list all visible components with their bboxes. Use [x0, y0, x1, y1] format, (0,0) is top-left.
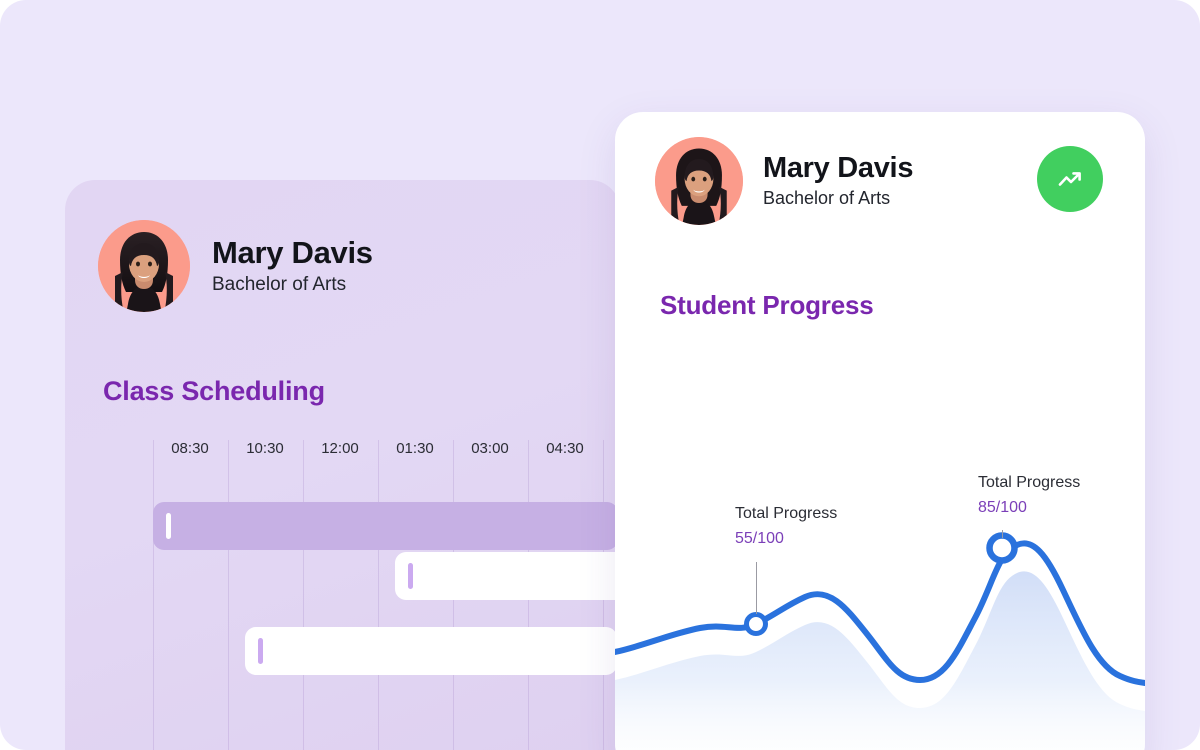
user-portrait-avatar: [98, 220, 190, 312]
time-label: 12:00: [305, 440, 375, 457]
time-label: 03:00: [455, 440, 525, 457]
progress-title: Student Progress: [660, 290, 874, 321]
profile-degree: Bachelor of Arts: [212, 274, 373, 296]
schedule-title: Class Scheduling: [103, 376, 325, 407]
timeline-gridline: [228, 440, 229, 750]
class-scheduling-card: Mary Davis Bachelor of Arts Class Schedu…: [65, 180, 620, 750]
time-label: 01:30: [380, 440, 450, 457]
schedule-bar-accent: [258, 638, 263, 664]
schedule-bar[interactable]: [395, 552, 620, 600]
timeline-gridline: [303, 440, 304, 750]
profile-name: Mary Davis: [763, 153, 913, 184]
timeline-axis: 08:3010:3012:0001:3003:0004:30: [65, 440, 620, 474]
annotation-stem-2b: [1002, 530, 1003, 538]
annotation-label: Total Progress: [978, 474, 1080, 492]
schedule-profile-header: Mary Davis Bachelor of Arts: [98, 220, 373, 312]
schedule-bar-accent: [166, 513, 171, 539]
chart-annotation-2: Total Progress 85/100: [978, 474, 1080, 517]
time-label: 10:30: [230, 440, 300, 457]
annotation-value: 55/100: [735, 530, 837, 548]
annotation-stem-1: [756, 562, 757, 614]
chart-annotation-1: Total Progress 55/100: [735, 505, 837, 548]
time-label: 04:30: [530, 440, 600, 457]
annotation-value: 85/100: [978, 499, 1080, 517]
chart-marker-large: [990, 536, 1015, 561]
profile-name: Mary Davis: [212, 236, 373, 269]
timeline-gridline: [153, 440, 154, 750]
schedule-timeline: 08:3010:3012:0001:3003:0004:30: [65, 440, 620, 750]
chart-marker-small: [747, 615, 766, 634]
schedule-profile-text: Mary Davis Bachelor of Arts: [212, 236, 373, 296]
progress-profile-text: Mary Davis Bachelor of Arts: [763, 153, 913, 209]
schedule-bar[interactable]: [245, 627, 617, 675]
annotation-label: Total Progress: [735, 505, 837, 523]
app-canvas: Mary Davis Bachelor of Arts Class Schedu…: [0, 0, 1200, 750]
progress-profile-header: Mary Davis Bachelor of Arts: [655, 137, 913, 225]
user-portrait-avatar: [655, 137, 743, 225]
trending-up-icon[interactable]: [1037, 146, 1103, 212]
student-progress-card: Mary Davis Bachelor of Arts Student Prog…: [615, 112, 1145, 750]
timeline-gridline: [378, 440, 379, 750]
schedule-bar[interactable]: [153, 502, 618, 550]
profile-degree: Bachelor of Arts: [763, 188, 913, 209]
schedule-bar-accent: [408, 563, 413, 589]
progress-chart: Total Progress 55/100 Total Progress 85/…: [615, 322, 1145, 750]
time-label: 08:30: [155, 440, 225, 457]
